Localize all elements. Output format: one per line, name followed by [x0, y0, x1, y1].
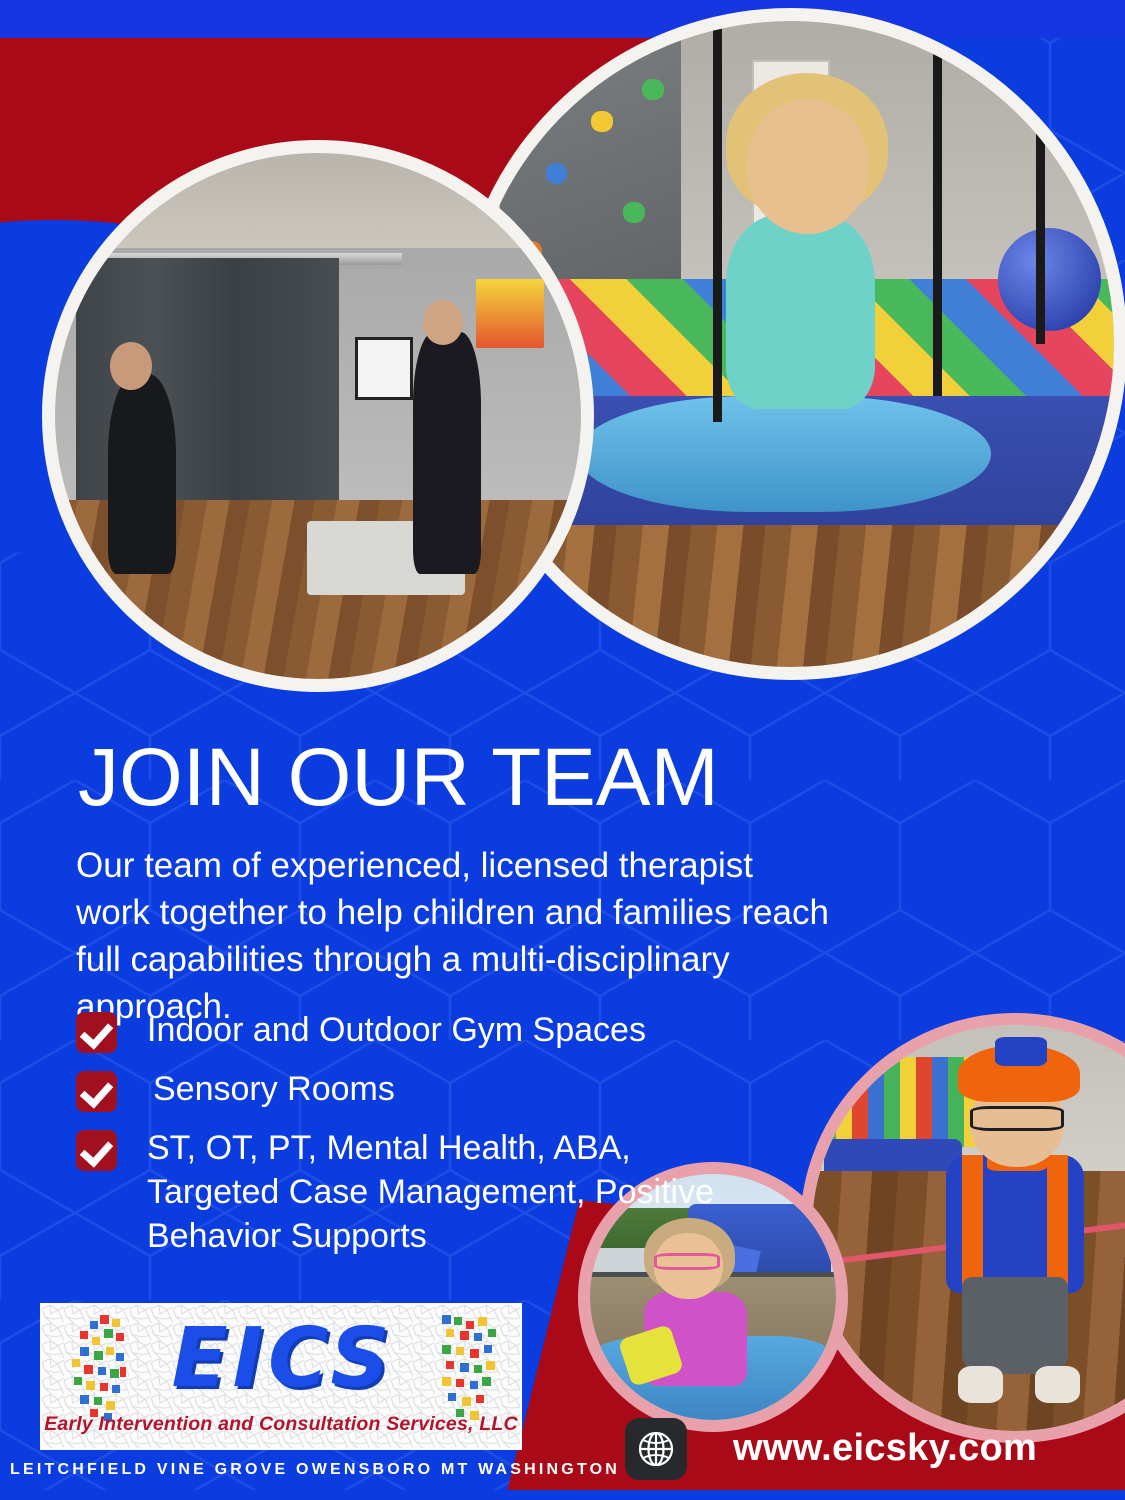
mosaic-decoration-right: [436, 1311, 512, 1423]
list-item: Sensory Rooms: [76, 1067, 716, 1112]
mosaic-decoration-left: [50, 1311, 126, 1423]
checklist-item-label: Indoor and Outdoor Gym Spaces: [147, 1008, 646, 1052]
photo-boy-sensory-room: [800, 1013, 1125, 1443]
checklist-item-label: ST, OT, PT, Mental Health, ABA, Targeted…: [147, 1126, 716, 1259]
checklist-item-label: Sensory Rooms: [153, 1067, 395, 1111]
photo-therapy-room: [42, 140, 594, 692]
logo-tagline: Early Intervention and Consultation Serv…: [42, 1413, 520, 1436]
eics-logo: EICS Early Intervention and Consultation…: [40, 1303, 522, 1450]
check-icon: [76, 1130, 117, 1171]
intro-paragraph: Our team of experienced, licensed therap…: [76, 843, 836, 1031]
page-title: JOIN OUR TEAM: [78, 737, 719, 819]
feature-checklist: Indoor and Outdoor Gym Spaces Sensory Ro…: [76, 1008, 716, 1273]
globe-icon: [625, 1418, 687, 1480]
list-item: Indoor and Outdoor Gym Spaces: [76, 1008, 716, 1053]
bottom-blue-strip: [0, 1490, 1125, 1500]
flyer-poster: JOIN OUR TEAM Our team of experienced, l…: [0, 0, 1125, 1500]
check-icon: [76, 1071, 117, 1112]
list-item: ST, OT, PT, Mental Health, ABA, Targeted…: [76, 1126, 716, 1259]
website-link[interactable]: www.eicsky.com: [733, 1427, 1037, 1470]
logo-wordmark: EICS: [130, 1311, 436, 1408]
check-icon: [76, 1012, 117, 1053]
office-locations: LEITCHFIELD VINE GROVE OWENSBORO MT WASH…: [10, 1461, 550, 1479]
